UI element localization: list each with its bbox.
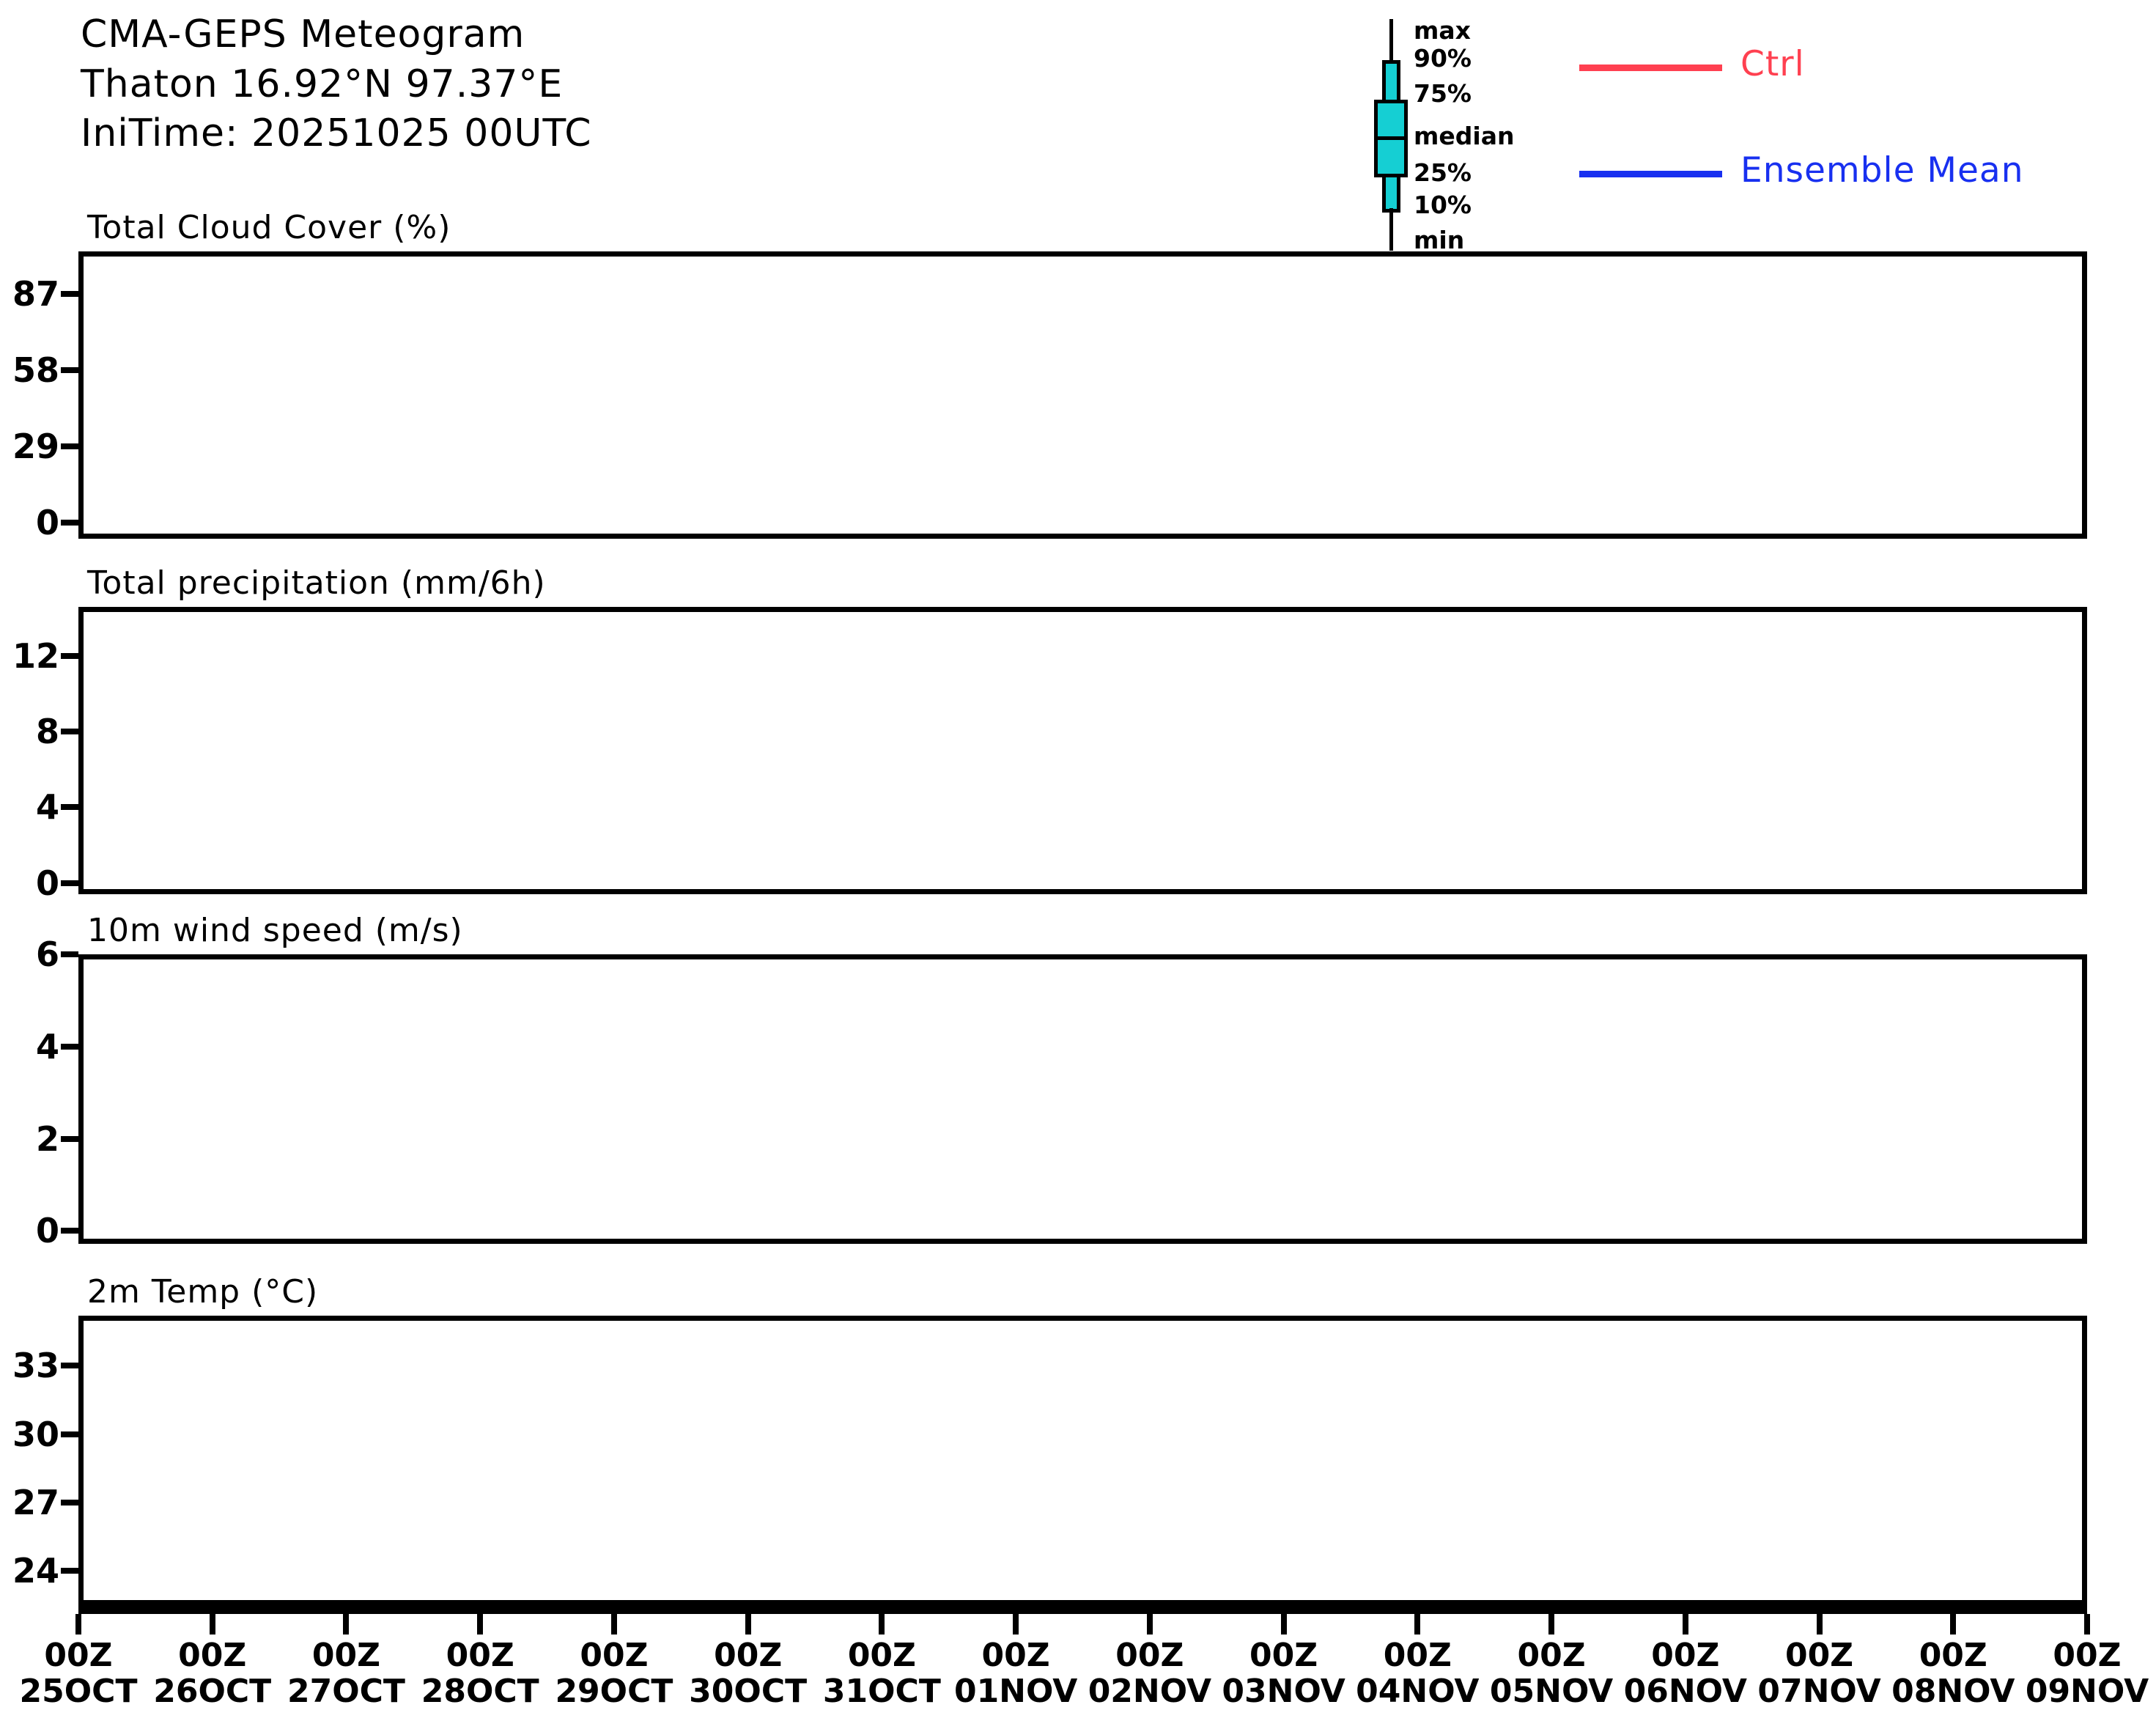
x-tick-label-time: 00Z: [1891, 1637, 2015, 1673]
panel-frame: [78, 607, 2087, 894]
x-tick-label-date: 28OCT: [421, 1673, 539, 1709]
y-tick-mark: [61, 1363, 78, 1368]
x-tick-label-date: 08NOV: [1891, 1673, 2015, 1709]
initime-line: IniTime: 20251025 00UTC: [81, 109, 592, 159]
y-tick-label: 30: [12, 1415, 59, 1454]
x-tick-label-date: 04NOV: [1356, 1673, 1479, 1709]
x-tick-mark: [1281, 1614, 1287, 1635]
x-tick-label: 00Z31OCT: [823, 1637, 941, 1710]
y-tick-label: 0: [36, 503, 59, 542]
x-tick-label-time: 00Z: [954, 1637, 1077, 1673]
y-tick-mark: [61, 443, 78, 449]
x-tick-label: 00Z29OCT: [555, 1637, 673, 1710]
legend-median-line: [1374, 136, 1408, 140]
x-tick-label-time: 00Z: [287, 1637, 405, 1673]
y-tick-mark: [61, 1136, 78, 1142]
legend-ctrl-label: Ctrl: [1740, 44, 1805, 84]
x-tick-label-date: 03NOV: [1222, 1673, 1345, 1709]
x-tick-label: 00Z28OCT: [421, 1637, 539, 1710]
y-tick-mark: [61, 367, 78, 373]
legend-box-label-median: median: [1414, 122, 1514, 150]
y-tick-label: 6: [36, 935, 59, 974]
x-axis: 00Z25OCT00Z26OCT00Z27OCT00Z28OCT00Z29OCT…: [78, 1605, 2087, 1614]
y-tick-mark: [61, 729, 78, 734]
legend-box-label-10pct: 10%: [1414, 191, 1472, 219]
x-tick-label-time: 00Z: [823, 1637, 941, 1673]
x-tick-label-time: 00Z: [1490, 1637, 1613, 1673]
x-tick-label-date: 27OCT: [287, 1673, 405, 1709]
x-tick-label: 00Z05NOV: [1490, 1637, 1613, 1710]
x-tick-mark: [879, 1614, 885, 1635]
x-tick-mark: [1950, 1614, 1956, 1635]
x-tick-label-date: 09NOV: [2026, 1673, 2149, 1709]
x-tick-label-date: 29OCT: [555, 1673, 673, 1709]
x-tick-label-date: 01NOV: [954, 1673, 1077, 1709]
x-tick-label: 00Z26OCT: [153, 1637, 271, 1710]
legend-ensemble-mean-label: Ensemble Mean: [1740, 150, 2023, 191]
panel-frame: [78, 251, 2087, 539]
x-tick-label: 00Z25OCT: [20, 1637, 138, 1710]
panel-title: 2m Temp (°C): [87, 1273, 318, 1311]
y-tick-label: 4: [36, 787, 59, 827]
x-tick-mark: [343, 1614, 349, 1635]
panel-frame: [78, 1316, 2087, 1605]
legend-box-label-max: max: [1414, 16, 1471, 45]
x-tick-label-time: 00Z: [2026, 1637, 2149, 1673]
y-tick-label: 29: [12, 427, 59, 466]
legend: max90%75%median25%10%minCtrlEnsemble Mea…: [1359, 6, 2136, 248]
x-tick-label-date: 31OCT: [823, 1673, 941, 1709]
y-tick-label: 33: [12, 1346, 59, 1385]
legend-box-label-min: min: [1414, 226, 1464, 254]
y-tick-label: 8: [36, 712, 59, 751]
y-tick-mark: [61, 520, 78, 526]
y-tick-mark: [61, 1044, 78, 1050]
chart-panel-1: Total Cloud Cover (%)0295887: [78, 251, 2087, 539]
x-tick-label-time: 00Z: [689, 1637, 807, 1673]
y-tick-label: 87: [12, 274, 59, 314]
x-tick-label: 00Z03NOV: [1222, 1637, 1345, 1710]
x-tick-mark: [1013, 1614, 1019, 1635]
chart-panel-4: 2m Temp (°C)24273033: [78, 1316, 2087, 1605]
x-tick-label-date: 07NOV: [1757, 1673, 1880, 1709]
y-tick-label: 27: [12, 1483, 59, 1522]
y-tick-mark: [61, 1568, 78, 1574]
y-tick-label: 0: [36, 1211, 59, 1250]
x-tick-label: 00Z06NOV: [1624, 1637, 1747, 1710]
y-tick-label: 2: [36, 1119, 59, 1159]
y-tick-label: 12: [12, 636, 59, 676]
legend-boxplot-glyph: [1374, 19, 1408, 239]
legend-max-whisker: [1389, 19, 1393, 63]
x-tick-mark: [210, 1614, 215, 1635]
legend-box-label-25pct: 25%: [1414, 158, 1472, 187]
x-tick-label-date: 02NOV: [1088, 1673, 1211, 1709]
x-tick-label: 00Z30OCT: [689, 1637, 807, 1710]
x-tick-label: 00Z08NOV: [1891, 1637, 2015, 1710]
page-title: CMA-GEPS Meteogram: [81, 10, 592, 60]
x-tick-mark: [1683, 1614, 1688, 1635]
y-tick-mark: [61, 1431, 78, 1437]
x-tick-label-time: 00Z: [1088, 1637, 1211, 1673]
x-tick-label-date: 25OCT: [20, 1673, 138, 1709]
y-tick-label: 0: [36, 863, 59, 903]
header-block: CMA-GEPS Meteogram Thaton 16.92°N 97.37°…: [81, 10, 592, 159]
x-tick-mark: [1548, 1614, 1554, 1635]
y-tick-mark: [61, 804, 78, 810]
x-tick-label-time: 00Z: [1757, 1637, 1880, 1673]
x-tick-label-time: 00Z: [555, 1637, 673, 1673]
x-tick-label-date: 26OCT: [153, 1673, 271, 1709]
x-tick-label-date: 06NOV: [1624, 1673, 1747, 1709]
x-tick-label: 00Z04NOV: [1356, 1637, 1479, 1710]
chart-panel-2: Total precipitation (mm/6h)04812: [78, 607, 2087, 894]
legend-min-whisker: [1389, 208, 1393, 251]
x-tick-label-time: 00Z: [1624, 1637, 1747, 1673]
x-tick-mark: [1817, 1614, 1823, 1635]
x-tick-label-time: 00Z: [20, 1637, 138, 1673]
x-tick-label: 00Z09NOV: [2026, 1637, 2149, 1710]
x-tick-label-time: 00Z: [421, 1637, 539, 1673]
panel-title: Total precipitation (mm/6h): [87, 564, 546, 602]
x-tick-mark: [75, 1614, 81, 1635]
panel-frame: [78, 954, 2087, 1244]
x-tick-label-date: 30OCT: [689, 1673, 807, 1709]
y-tick-mark: [61, 1228, 78, 1234]
x-tick-mark: [2084, 1614, 2090, 1635]
x-tick-label-time: 00Z: [1222, 1637, 1345, 1673]
y-tick-label: 4: [36, 1027, 59, 1066]
x-tick-mark: [611, 1614, 617, 1635]
y-tick-mark: [61, 291, 78, 297]
y-tick-label: 24: [12, 1551, 59, 1591]
x-tick-label-time: 00Z: [1356, 1637, 1479, 1673]
x-tick-mark: [477, 1614, 483, 1635]
x-tick-label-date: 05NOV: [1490, 1673, 1613, 1709]
chart-panel-3: 10m wind speed (m/s)0246: [78, 954, 2087, 1244]
x-tick-mark: [1414, 1614, 1420, 1635]
legend-box-label-90pct: 90%: [1414, 44, 1472, 73]
panel-title: 10m wind speed (m/s): [87, 912, 463, 949]
y-tick-mark: [61, 880, 78, 886]
legend-box-label-75pct: 75%: [1414, 79, 1472, 108]
x-tick-mark: [745, 1614, 751, 1635]
x-tick-label: 00Z02NOV: [1088, 1637, 1211, 1710]
y-tick-label: 58: [12, 350, 59, 390]
y-tick-mark: [61, 653, 78, 659]
station-line: Thaton 16.92°N 97.37°E: [81, 60, 592, 110]
x-tick-label: 00Z07NOV: [1757, 1637, 1880, 1710]
x-tick-label: 00Z27OCT: [287, 1637, 405, 1710]
legend-ensemble-mean-line: [1579, 171, 1722, 177]
panel-title: Total Cloud Cover (%): [87, 209, 451, 246]
legend-ctrl-line: [1579, 65, 1722, 71]
y-tick-mark: [61, 951, 78, 957]
y-tick-mark: [61, 1500, 78, 1506]
x-tick-label: 00Z01NOV: [954, 1637, 1077, 1710]
x-tick-label-time: 00Z: [153, 1637, 271, 1673]
x-tick-mark: [1147, 1614, 1153, 1635]
